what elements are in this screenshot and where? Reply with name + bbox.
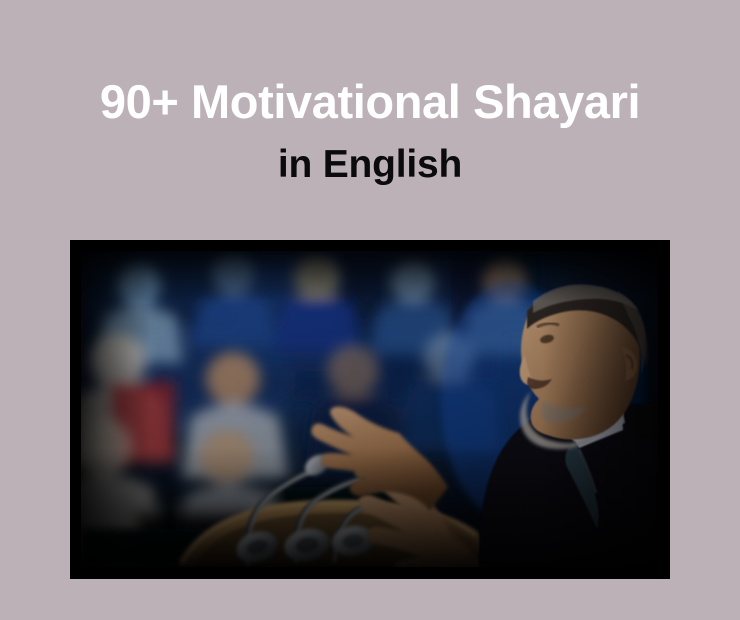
poster-canvas: 90+ Motivational Shayari in English bbox=[0, 0, 740, 620]
speaker-photo-illustration bbox=[81, 251, 658, 567]
photo-frame bbox=[70, 240, 670, 579]
page-subtitle: in English bbox=[0, 138, 740, 192]
speaker-photo bbox=[81, 251, 658, 567]
page-title: 90+ Motivational Shayari bbox=[0, 72, 740, 132]
poster-title-block: 90+ Motivational Shayari in English bbox=[0, 72, 740, 192]
